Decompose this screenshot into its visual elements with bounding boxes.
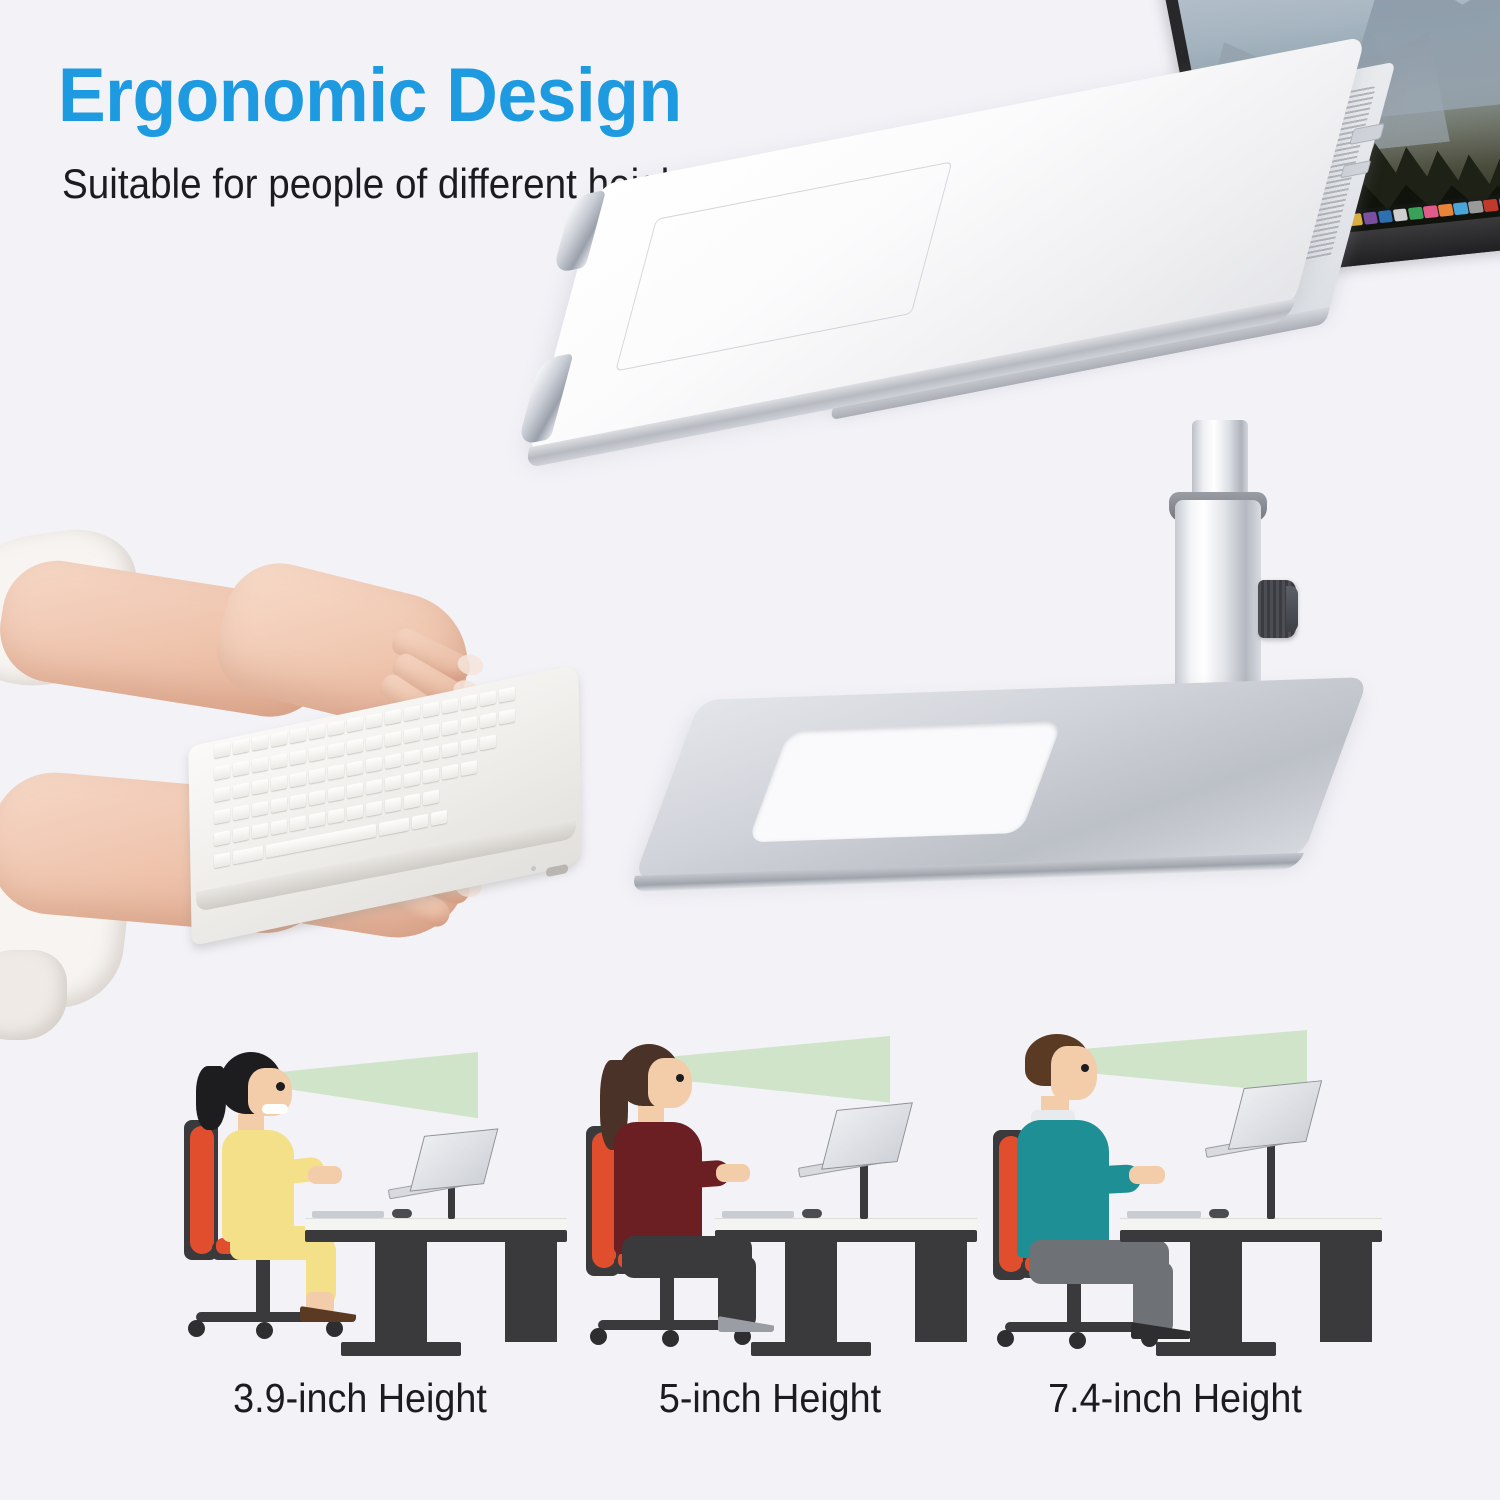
mini-laptop-screen [1228, 1080, 1322, 1150]
stand-tray-inset [615, 161, 952, 371]
dock-app-icon[interactable] [1438, 204, 1454, 217]
desk-mouse [802, 1209, 822, 1218]
dock-app-icon[interactable] [1483, 199, 1499, 212]
eye [676, 1074, 684, 1082]
eye [276, 1082, 285, 1091]
figure-woman-mid-height: 5-inch Height [570, 1030, 970, 1360]
dock-app-icon[interactable] [1423, 205, 1439, 218]
desk-keyboard [1127, 1211, 1201, 1218]
desk-leg [505, 1238, 557, 1342]
figure-girl-low-height: 3.9-inch Height [160, 1030, 560, 1360]
laptop-stand-product-shot [580, 0, 1500, 940]
height-adjustment-knob-cap[interactable] [1286, 586, 1298, 632]
chair-caster [256, 1322, 273, 1339]
chair-post [256, 1258, 270, 1314]
figure-caption: 7.4-inch Height [991, 1375, 1359, 1422]
desk-leg [1320, 1238, 1372, 1342]
mini-laptop-screen [821, 1102, 913, 1169]
dock-app-icon[interactable] [1362, 212, 1378, 225]
face [648, 1058, 692, 1108]
mini-stand-post [860, 1161, 868, 1219]
face [1051, 1046, 1097, 1100]
ponytail [196, 1066, 226, 1130]
desk-keyboard [312, 1211, 384, 1218]
product-marketing-image: Ergonomic Design Suitable for people of … [0, 0, 1500, 1500]
chair-backrest [592, 1132, 616, 1268]
figure-man-high-height: 7.4-inch Height [975, 1030, 1375, 1360]
figure-caption: 5-inch Height [586, 1375, 954, 1422]
mouth [262, 1104, 288, 1114]
desk-leg [785, 1238, 837, 1342]
hand [716, 1164, 750, 1182]
eye [1081, 1064, 1089, 1072]
desk-mouse [392, 1209, 412, 1218]
stand-base-cutout [747, 721, 1062, 842]
chair-caster [326, 1320, 343, 1337]
desk-leg [1190, 1238, 1242, 1342]
hand [1129, 1166, 1165, 1184]
desk-leg [375, 1238, 427, 1342]
mini-laptop-screen [410, 1128, 499, 1191]
lower-leg [1133, 1262, 1173, 1334]
chair-caster [997, 1330, 1014, 1347]
dock-app-icon[interactable] [1468, 201, 1484, 214]
dock-app-icon[interactable] [1393, 209, 1409, 222]
chair-post [660, 1272, 674, 1322]
dock-app-icon[interactable] [1408, 207, 1424, 220]
desk-mouse [1209, 1209, 1229, 1218]
stand-base-surface [634, 677, 1369, 880]
hands-typing-photo [0, 520, 610, 1020]
desk-keyboard [722, 1211, 794, 1218]
chair-caster [1069, 1332, 1086, 1349]
dock-app-icon[interactable] [1453, 202, 1469, 215]
chair-backrest [190, 1126, 214, 1254]
mini-stand-post [1267, 1141, 1275, 1219]
sightline-cone [278, 1052, 478, 1144]
wireless-keyboard [190, 705, 580, 905]
chair-caster [590, 1328, 607, 1345]
chair-caster [662, 1330, 679, 1347]
desk-leg [915, 1238, 967, 1342]
chair-caster [188, 1320, 205, 1337]
stand-base-plate [634, 677, 1369, 880]
dock-app-icon[interactable] [1378, 210, 1394, 223]
hand [308, 1166, 342, 1184]
figure-caption: 3.9-inch Height [176, 1375, 544, 1422]
height-comparison-illustrations: 3.9-inch Height [0, 1010, 1500, 1410]
